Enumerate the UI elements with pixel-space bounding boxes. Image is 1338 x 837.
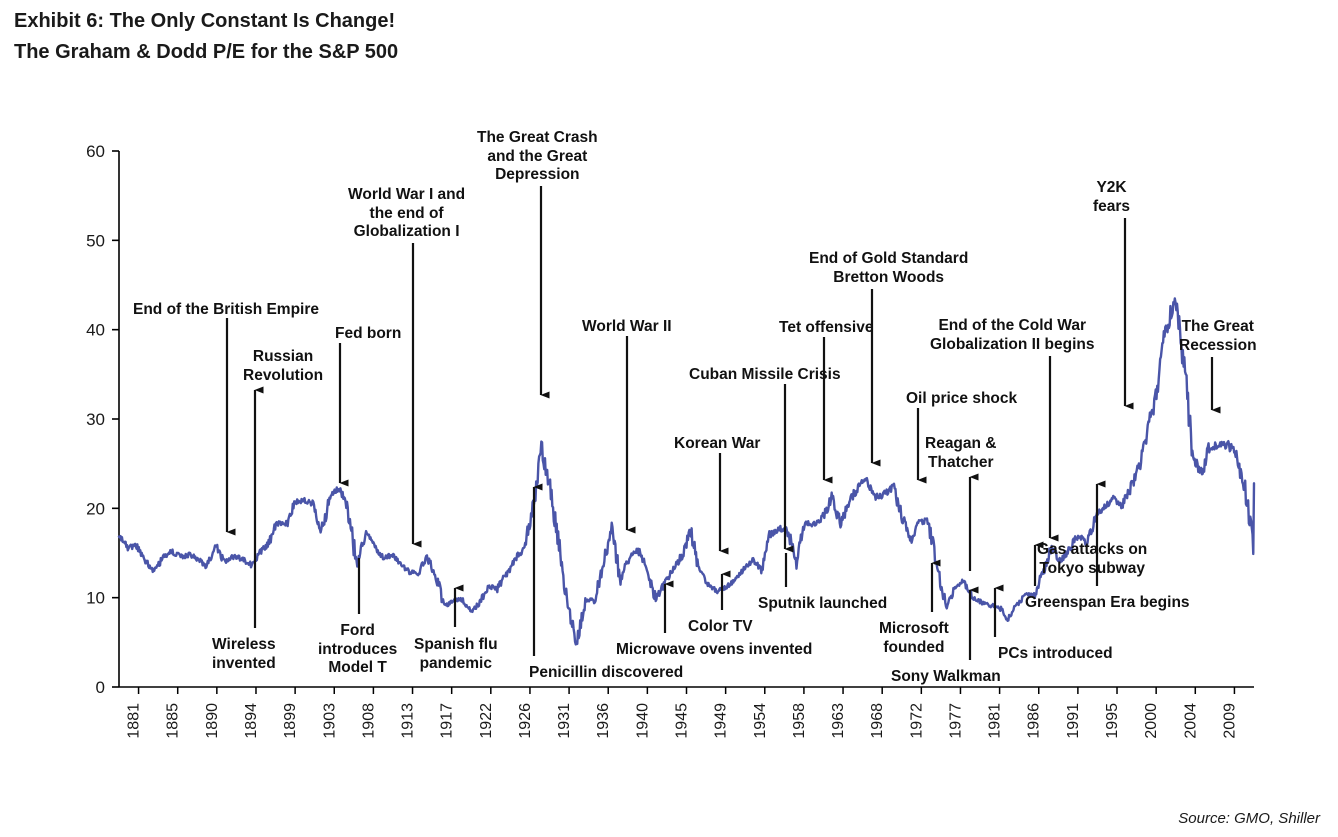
- annotation-line: Bretton Woods: [809, 269, 968, 288]
- x-tick-label: 1936: [595, 703, 612, 739]
- annotation-line: Penicillin discovered: [529, 664, 683, 683]
- annotation-ford-model-t: FordintroducesModel T: [318, 622, 397, 678]
- annotation-line: Gas attacks on: [1037, 541, 1147, 560]
- annotation-line: founded: [879, 639, 949, 658]
- x-tick-label: 1940: [634, 703, 651, 739]
- annotation-line: Tet offensive: [779, 319, 873, 338]
- y-tick-label: 40: [86, 321, 105, 340]
- annotation-microsoft-founded: Microsoftfounded: [879, 620, 949, 657]
- annotation-line: The Great Crash: [477, 129, 598, 148]
- annotation-gas-attacks-tokyo: Gas attacks onTokyo subway: [1037, 541, 1147, 578]
- annotation-line: Depression: [477, 166, 598, 185]
- x-tick-label: 1991: [1065, 703, 1082, 739]
- x-tick-label: 1995: [1104, 703, 1121, 739]
- x-tick-label: 1972: [908, 703, 925, 739]
- x-tick-label: 1903: [321, 703, 338, 739]
- x-tick-label: 1890: [204, 703, 221, 739]
- annotation-end-british-empire: End of the British Empire: [133, 301, 319, 320]
- annotation-line: End of the Cold War: [930, 317, 1094, 336]
- x-tick-label: 1926: [517, 703, 534, 739]
- annotation-reagan-thatcher: Reagan &Thatcher: [925, 435, 997, 472]
- annotation-line: Greenspan Era begins: [1025, 594, 1190, 613]
- y-tick-label: 30: [86, 410, 105, 429]
- x-tick-label: 1945: [674, 703, 691, 739]
- x-tick-label: 1986: [1026, 703, 1043, 739]
- x-tick-label: 1908: [360, 703, 377, 739]
- y-tick-label: 20: [86, 499, 105, 518]
- annotation-line: introduces: [318, 641, 397, 660]
- x-tick-label: 2004: [1182, 703, 1199, 739]
- annotation-cuban-missile-crisis: Cuban Missile Crisis: [689, 366, 841, 385]
- x-tick-label: 2000: [1143, 703, 1160, 739]
- annotation-line: Fed born: [335, 325, 401, 344]
- annotation-line: Spanish flu: [414, 636, 498, 655]
- annotation-line: Oil price shock: [906, 390, 1017, 409]
- annotation-great-crash: The Great Crashand the GreatDepression: [477, 129, 598, 185]
- annotation-oil-price-shock: Oil price shock: [906, 390, 1017, 409]
- x-tick-label: 1968: [869, 703, 886, 739]
- x-tick-label: 1899: [282, 703, 299, 739]
- y-tick-label: 50: [86, 231, 105, 250]
- annotation-line: Globalization I: [348, 223, 465, 242]
- annotation-line: fears: [1093, 198, 1130, 217]
- annotation-end-gold-standard: End of Gold StandardBretton Woods: [809, 250, 968, 287]
- x-tick-label: 1885: [165, 703, 182, 739]
- x-tick-label: 1922: [478, 703, 495, 739]
- annotation-line: Ford: [318, 622, 397, 641]
- annotation-penicillin: Penicillin discovered: [529, 664, 683, 683]
- annotation-line: Korean War: [674, 435, 760, 454]
- chart-svg: 0102030405060188118851890189418991903190…: [0, 0, 1338, 837]
- y-tick-label: 10: [86, 589, 105, 608]
- annotation-line: Y2K: [1093, 179, 1130, 198]
- annotation-line: Color TV: [688, 618, 753, 637]
- annotation-line: the end of: [348, 205, 465, 224]
- annotation-line: Sony Walkman: [891, 668, 1001, 687]
- x-tick-label: 2009: [1221, 703, 1238, 739]
- annotation-line: Tokyo subway: [1037, 560, 1147, 579]
- annotation-line: Reagan &: [925, 435, 997, 454]
- annotation-y2k-fears: Y2Kfears: [1093, 179, 1130, 216]
- annotation-line: PCs introduced: [998, 645, 1113, 664]
- x-tick-label: 1894: [243, 703, 260, 739]
- annotation-line: and the Great: [477, 148, 598, 167]
- annotation-world-war-2: World War II: [582, 318, 672, 337]
- annotation-line: Model T: [318, 659, 397, 678]
- annotation-line: Russian: [243, 348, 323, 367]
- x-tick-label: 1981: [987, 703, 1004, 739]
- annotation-line: Recession: [1179, 337, 1257, 356]
- x-tick-label: 1958: [791, 703, 808, 739]
- annotation-line: pandemic: [414, 655, 498, 674]
- annotation-line: End of the British Empire: [133, 301, 319, 320]
- annotation-sony-walkman: Sony Walkman: [891, 668, 1001, 687]
- x-tick-label: 1917: [439, 703, 456, 739]
- annotation-line: Cuban Missile Crisis: [689, 366, 841, 385]
- graham-dodd-pe-chart: 0102030405060188118851890189418991903190…: [0, 0, 1338, 837]
- annotation-line: The Great: [1179, 318, 1257, 337]
- x-tick-label: 1881: [126, 703, 143, 739]
- annotation-line: World War I and: [348, 186, 465, 205]
- annotation-line: Microsoft: [879, 620, 949, 639]
- annotation-greenspan-era: Greenspan Era begins: [1025, 594, 1190, 613]
- annotation-microwave-ovens: Microwave ovens invented: [616, 641, 812, 660]
- annotation-wireless-invented: Wirelessinvented: [212, 636, 276, 673]
- annotation-tet-offensive: Tet offensive: [779, 319, 873, 338]
- annotation-color-tv: Color TV: [688, 618, 753, 637]
- x-tick-label: 1963: [830, 703, 847, 739]
- source-note: Source: GMO, Shiller: [1178, 810, 1320, 827]
- y-tick-label: 0: [96, 678, 105, 697]
- annotation-line: Microwave ovens invented: [616, 641, 812, 660]
- x-tick-label: 1913: [400, 703, 417, 739]
- x-tick-label: 1949: [713, 703, 730, 739]
- x-tick-label: 1954: [752, 703, 769, 739]
- annotation-great-recession: The GreatRecession: [1179, 318, 1257, 355]
- annotation-line: Globalization II begins: [930, 336, 1094, 355]
- x-tick-label: 1977: [947, 703, 964, 739]
- annotation-line: Revolution: [243, 367, 323, 386]
- annotation-russian-revolution: RussianRevolution: [243, 348, 323, 385]
- annotation-end-cold-war: End of the Cold WarGlobalization II begi…: [930, 317, 1094, 354]
- x-tick-label: 1931: [556, 703, 573, 739]
- y-tick-label: 60: [86, 142, 105, 161]
- annotation-pcs-introduced: PCs introduced: [998, 645, 1113, 664]
- annotation-line: World War II: [582, 318, 672, 337]
- annotation-line: End of Gold Standard: [809, 250, 968, 269]
- annotation-line: Wireless: [212, 636, 276, 655]
- annotation-spanish-flu: Spanish flupandemic: [414, 636, 498, 673]
- annotation-line: Thatcher: [925, 454, 997, 473]
- annotation-korean-war: Korean War: [674, 435, 760, 454]
- annotation-line: invented: [212, 655, 276, 674]
- annotation-sputnik: Sputnik launched: [758, 595, 887, 614]
- annotation-fed-born: Fed born: [335, 325, 401, 344]
- annotation-line: Sputnik launched: [758, 595, 887, 614]
- annotation-ww1-globalization: World War I andthe end ofGlobalization I: [348, 186, 465, 242]
